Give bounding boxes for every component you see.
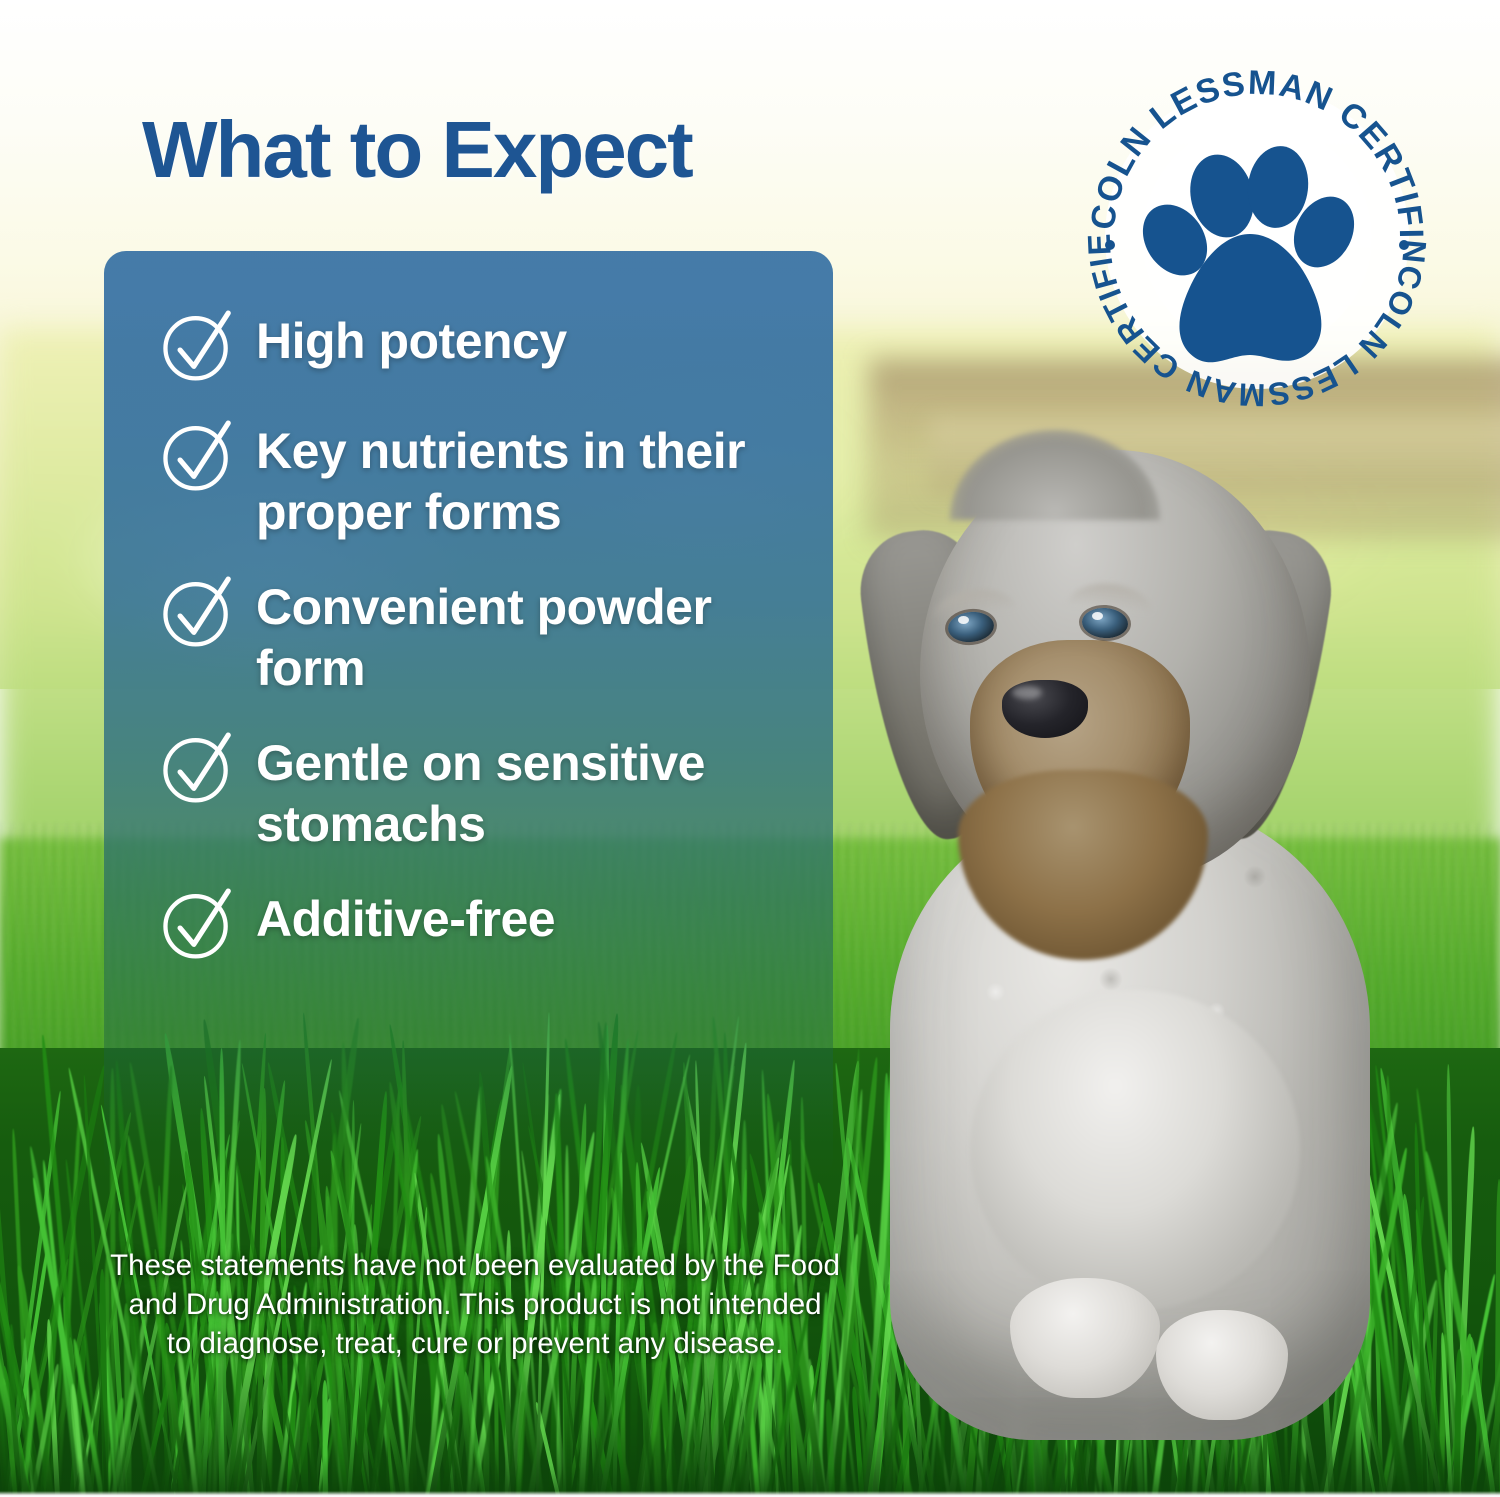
disclaimer-line-2: and Drug Administration. This product is… [100, 1285, 850, 1324]
dog-paw-left [1010, 1278, 1160, 1398]
list-item: Gentle on sensitive stomachs [156, 729, 796, 855]
bottom-edge [0, 1491, 1500, 1497]
list-item: Convenient powder form [156, 573, 796, 699]
check-circle-icon [156, 567, 242, 653]
disclaimer-line-3: to diagnose, treat, cure or prevent any … [100, 1324, 850, 1363]
list-item-label: Convenient powder form [256, 573, 796, 699]
dog-chest [970, 990, 1300, 1310]
list-item: Key nutrients in their proper forms [156, 417, 796, 543]
check-circle-icon [156, 411, 242, 497]
lincoln-lessman-certified-badge: LINCOLN LESSMAN CERTIFIED LINCOLN LESSMA… [1072, 52, 1442, 422]
list-item: Additive-free [156, 885, 796, 965]
dog-photo [830, 430, 1430, 1440]
list-item-label: Additive-free [256, 885, 555, 950]
check-circle-icon [156, 879, 242, 965]
dog-eye-highlight-right [1092, 612, 1103, 620]
list-item-label: Gentle on sensitive stomachs [256, 729, 796, 855]
benefits-list: High potency Key nutrients in their prop… [156, 307, 796, 965]
list-item-label: High potency [256, 307, 567, 372]
fda-disclaimer: These statements have not been evaluated… [100, 1246, 850, 1364]
list-item-label: Key nutrients in their proper forms [256, 417, 796, 543]
check-circle-icon [156, 301, 242, 387]
check-circle-icon [156, 723, 242, 809]
what-to-expect-panel: High potency Key nutrients in their prop… [104, 251, 833, 1181]
disclaimer-line-1: These statements have not been evaluated… [100, 1246, 850, 1285]
page-title: What to Expect [142, 104, 692, 196]
product-infographic: What to Expect LINCOLN LESSMAN CERTIFIED… [0, 0, 1500, 1497]
dog-eye-highlight-left [958, 616, 969, 624]
dog-paw-right [1156, 1310, 1288, 1420]
dog-head-tuft [950, 430, 1160, 520]
list-item: High potency [156, 307, 796, 387]
dog-nose-highlight [1012, 686, 1042, 699]
